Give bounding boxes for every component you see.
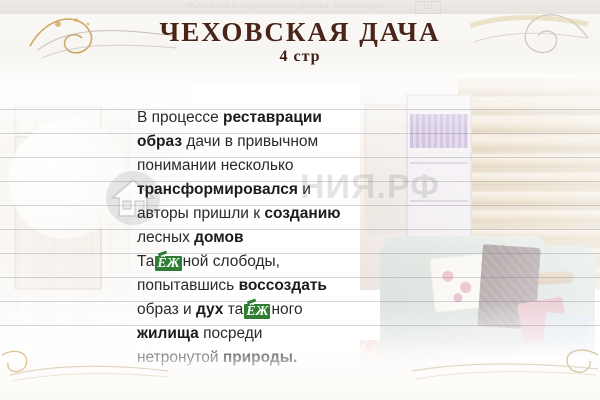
article-text: ного	[271, 301, 302, 318]
article-line: лесных домов	[137, 226, 377, 250]
top-bar-badge: 111	[415, 1, 441, 14]
article-text-block: В процессе реставрацииобраз дачи в привы…	[137, 106, 377, 370]
article-text: и	[298, 181, 311, 198]
ezh-logo-mark: ЁЖ	[155, 256, 181, 271]
article-line: В процессе реставрации	[137, 106, 377, 130]
article-line: авторы пришли к созданию	[137, 202, 377, 226]
article-line: понимании несколько	[137, 154, 377, 178]
page-canvas: НИЯ.РФ ЧЕХОВСКАЯ ДАЧА 4 стр объя	[0, 0, 600, 400]
right-photo-log-cabin-interior	[360, 78, 600, 378]
article-text: нетронутой	[137, 349, 223, 366]
top-bar-text: объявления о недвижимости региона, комме…	[183, 1, 385, 10]
ezh-logo-mark: ЁЖ	[244, 304, 270, 319]
article-line: трансформировался и	[137, 178, 377, 202]
article-bold-text: воссоздать	[239, 277, 327, 294]
article-bold-text: жилища	[137, 325, 199, 342]
article-bold-text: домов	[194, 229, 243, 246]
page-subtitle: 4 стр	[0, 48, 600, 66]
article-line: нетронутой природы.	[137, 346, 377, 370]
article-text: Та	[137, 253, 154, 270]
article-text: В процессе	[137, 109, 223, 126]
article-bold-text: созданию	[264, 205, 340, 222]
article-text: та	[223, 301, 243, 318]
article-text: посреди	[199, 325, 263, 342]
blue-cushion	[542, 312, 590, 356]
article-text: авторы пришли к	[137, 205, 264, 222]
article-line: жилища посреди	[137, 322, 377, 346]
article-text: понимании несколько	[137, 157, 294, 174]
article-text: образ и	[137, 301, 196, 318]
article-line: образ дачи в привычном	[137, 130, 377, 154]
article-text: ной слободы,	[183, 253, 280, 270]
article-line: образ и дух таЁЖного	[137, 298, 377, 322]
article-bold-text: дух	[196, 301, 223, 318]
article-text: попытавшись	[137, 277, 239, 294]
article-bold-text: образ	[137, 133, 182, 150]
article-bold-text: трансформировался	[137, 181, 298, 198]
shelf-divider	[410, 200, 468, 202]
article-text: лесных	[137, 229, 194, 246]
article-bold-text: природы.	[223, 349, 297, 366]
page-title: ЧЕХОВСКАЯ ДАЧА	[0, 17, 600, 48]
article-text: дачи в привычном	[182, 133, 318, 150]
top-faint-bar: объявления о недвижимости региона, комме…	[0, 0, 600, 14]
article-line: ТаЁЖной слободы,	[137, 250, 377, 274]
basket-object	[0, 350, 64, 400]
article-bold-text: реставрации	[223, 109, 322, 126]
shelf-divider	[410, 162, 468, 164]
shelf-purple-row	[410, 114, 468, 148]
article-line: попытавшись воссоздать	[137, 274, 377, 298]
